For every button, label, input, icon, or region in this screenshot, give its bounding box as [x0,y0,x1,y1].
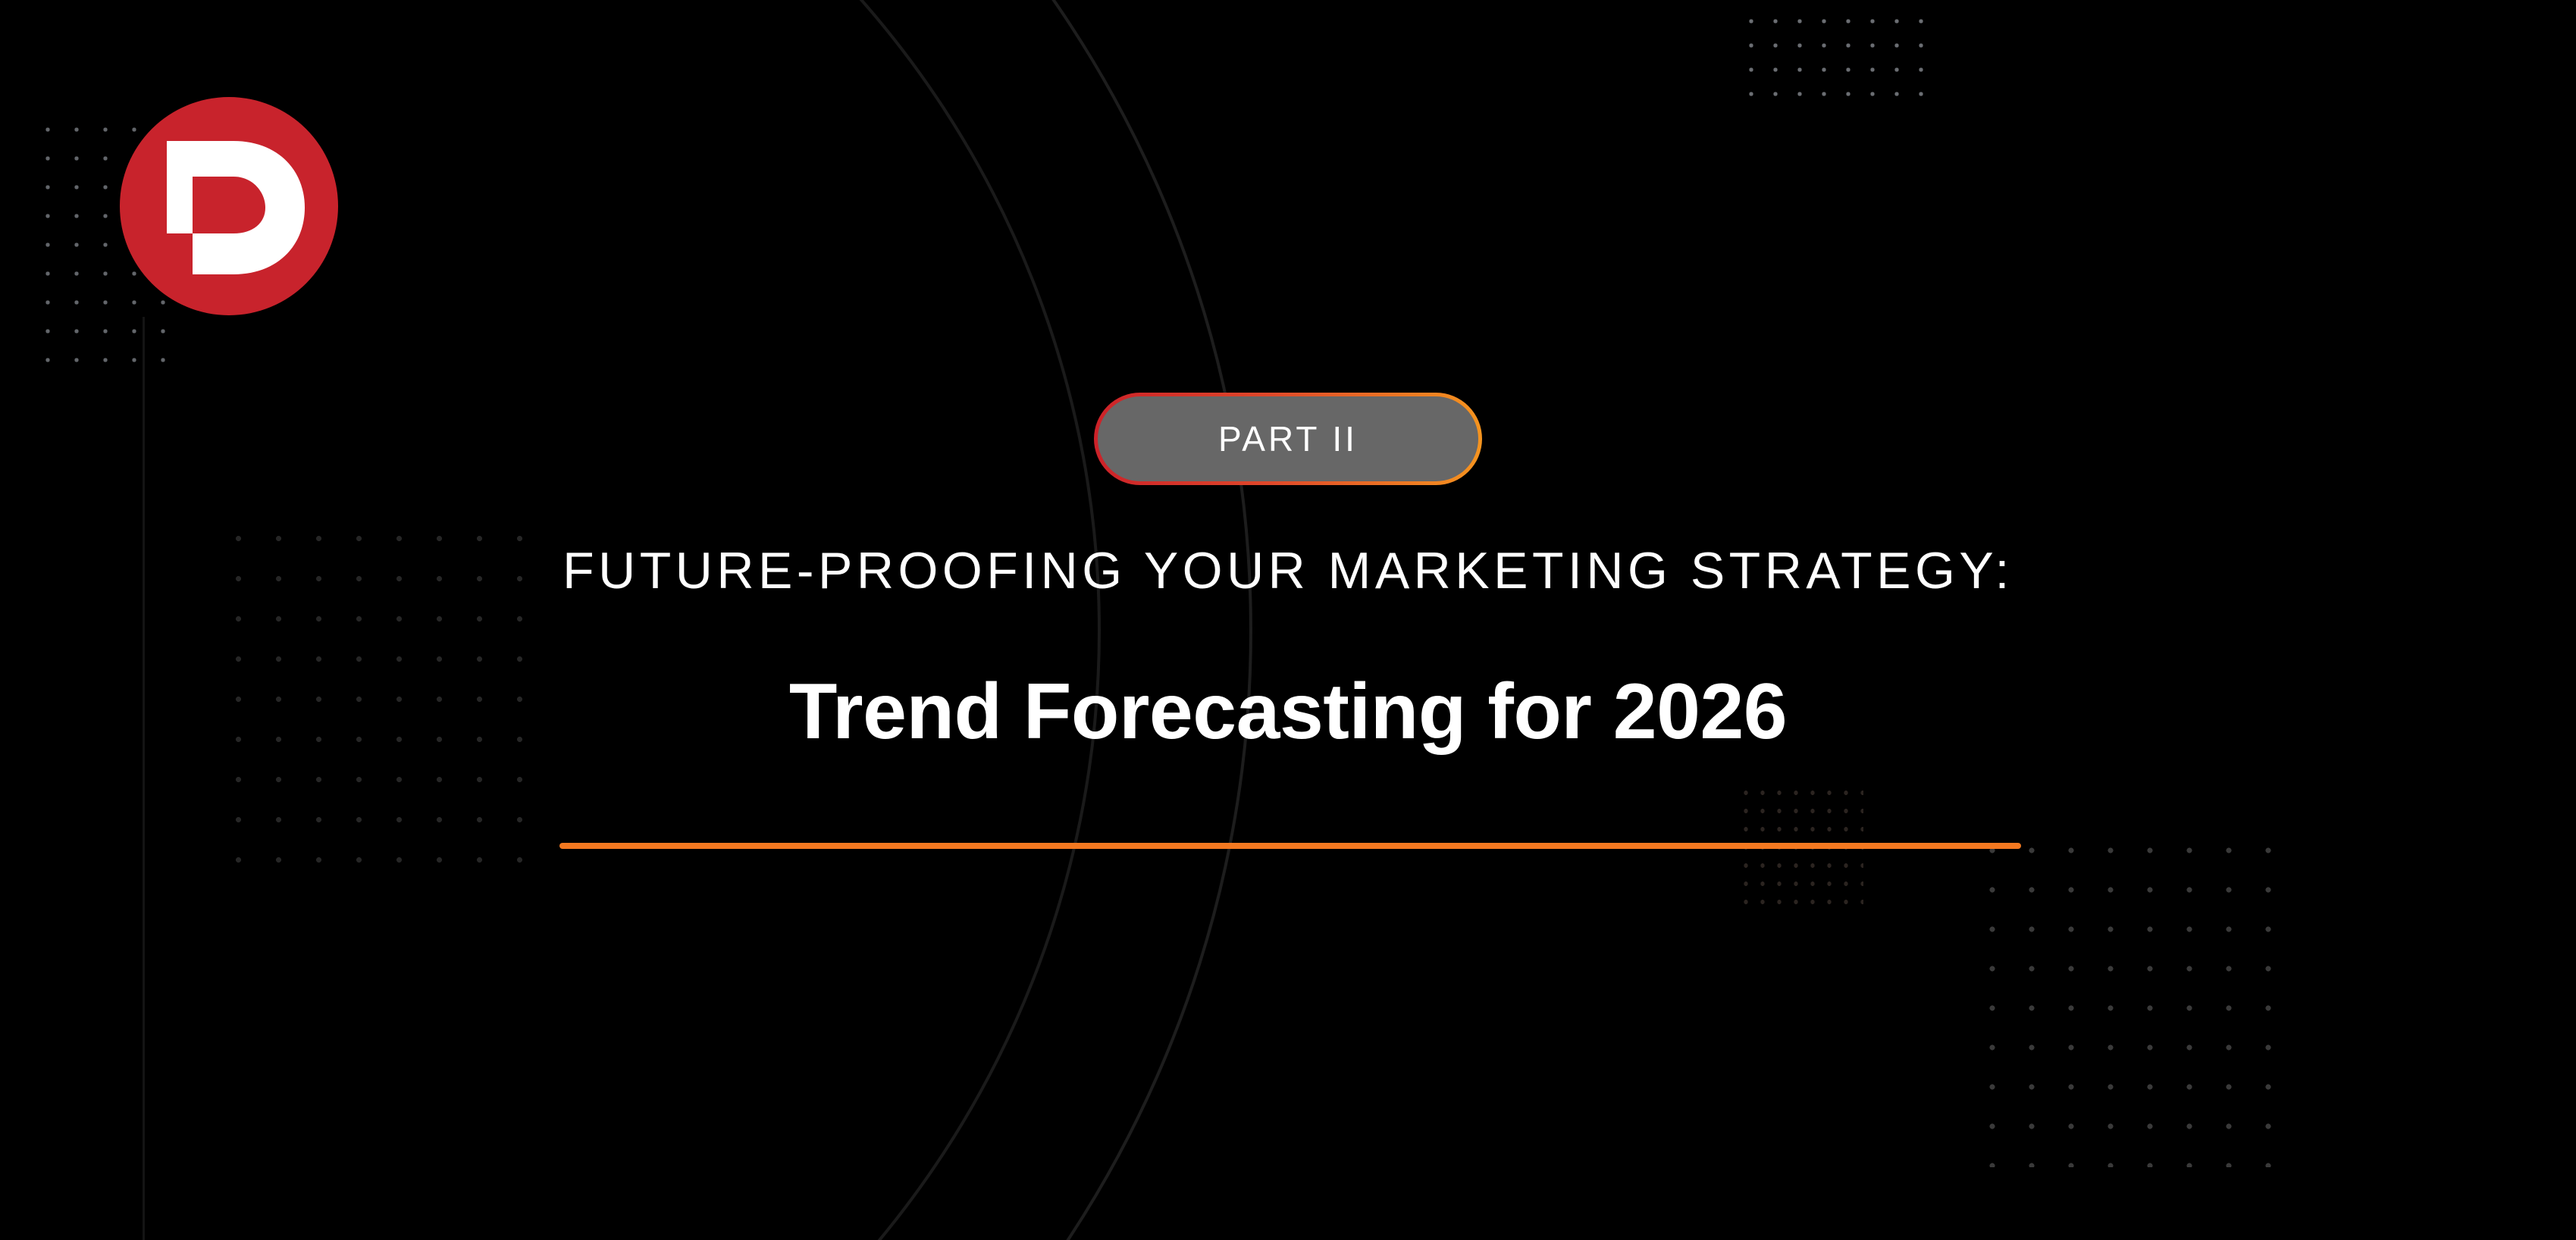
dot-grid-near-rule [1735,781,1863,917]
slide-canvas: PART II FUTURE-PROOFING YOUR MARKETING S… [0,0,2576,1240]
background-arcs [0,0,2576,1240]
eyebrow-heading: FUTURE-PROOFING YOUR MARKETING STRATEGY: [0,541,2576,600]
part-badge-label: PART II [1218,418,1358,459]
page-title: Trend Forecasting for 2026 [0,667,2576,757]
brand-logo [120,97,338,315]
dot-grid-bottom-right [1968,826,2286,1167]
logo-circle [120,97,338,315]
part-badge-fill: PART II [1098,396,1478,481]
dot-grid-top-right [1736,6,1935,100]
accent-underline [559,843,2021,849]
vertical-divider [143,317,145,1240]
part-badge[interactable]: PART II [1094,393,1482,485]
